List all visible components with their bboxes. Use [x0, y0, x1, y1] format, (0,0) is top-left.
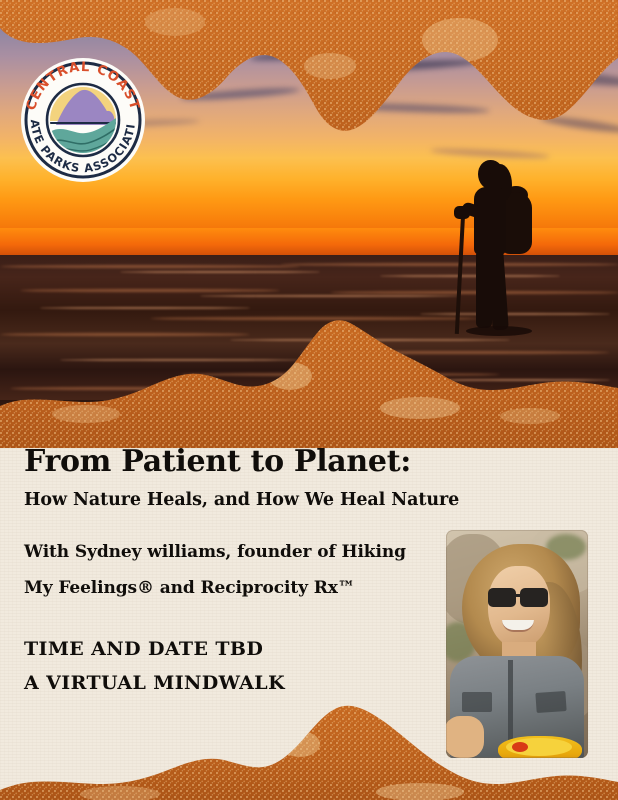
hiker-silhouette: [448, 160, 558, 350]
event-format: A VIRTUAL MINDWALK: [24, 672, 285, 694]
speaker-portrait: [446, 530, 588, 758]
event-flyer: CENTRAL COAST STATE PARKS ASSOCIATION Fr…: [0, 0, 618, 800]
photo-frame: [446, 530, 588, 758]
presenter-line-1: With Sydney williams, founder of Hiking: [24, 542, 406, 562]
event-time-and-date: TIME AND DATE TBD: [24, 638, 263, 660]
presenter-line-2: My Feelings® and Reciprocity Rx™: [24, 578, 355, 598]
page-subtitle: How Nature Heals, and How We Heal Nature: [24, 490, 459, 510]
page-title: From Patient to Planet:: [24, 444, 411, 479]
central-coast-state-parks-association-logo[interactable]: CENTRAL COAST STATE PARKS ASSOCIATION: [18, 55, 148, 185]
